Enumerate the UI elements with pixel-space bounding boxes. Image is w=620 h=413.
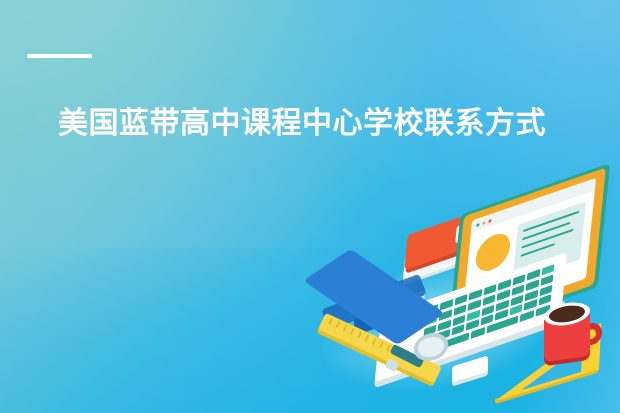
screen-dot-1: [476, 223, 479, 227]
accent-rule: [27, 54, 92, 58]
screen-avatar: [474, 229, 512, 276]
screen-dot-3: [488, 218, 491, 222]
banner-headline: 美国蓝带高中课程中心学校联系方式: [58, 104, 603, 144]
promo-banner: 美国蓝带高中课程中心学校联系方式: [0, 0, 620, 413]
education-illustration: [318, 193, 620, 413]
screen-dot-2: [482, 220, 485, 224]
